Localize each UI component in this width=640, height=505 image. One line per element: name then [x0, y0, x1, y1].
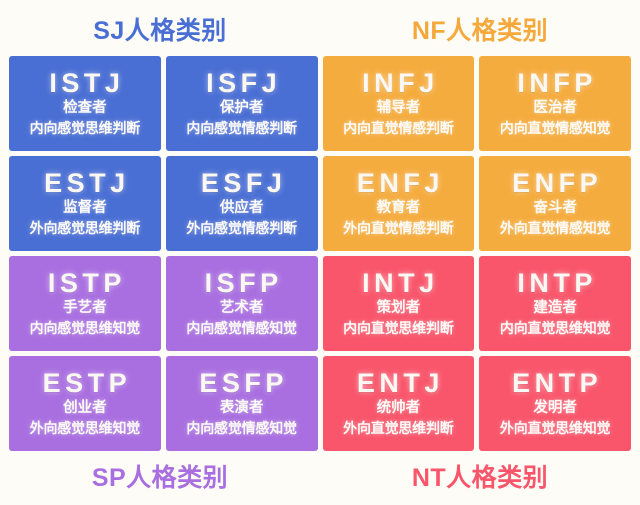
- type-role: 策划者: [377, 300, 421, 317]
- type-card-enfp[interactable]: ENFP奋斗者外向直觉情感知觉: [479, 156, 631, 251]
- type-functions: 外向直觉思维判断: [343, 420, 453, 436]
- type-role: 表演者: [220, 400, 264, 417]
- type-code: ENTP: [508, 369, 602, 397]
- type-code: INTP: [513, 269, 597, 297]
- type-role: 手艺者: [63, 300, 107, 317]
- type-functions: 内向感觉思维判断: [30, 120, 140, 136]
- type-code: ESFJ: [197, 169, 287, 197]
- top-header-row: SJ人格类别 NF人格类别: [0, 8, 640, 54]
- type-role: 供应者: [220, 200, 264, 217]
- personality-type-grid: ISTJ检查者内向感觉思维判断ISFJ保护者内向感觉情感判断INFJ辅导者内向直…: [9, 56, 631, 451]
- type-card-esfp[interactable]: ESFP表演者内向感觉情感知觉: [166, 356, 318, 451]
- type-functions: 内向直觉思维知觉: [500, 320, 610, 336]
- type-code: INFP: [513, 69, 597, 97]
- type-code: ISFJ: [202, 69, 281, 97]
- type-functions: 外向感觉思维知觉: [30, 420, 140, 436]
- header-label-nt: NT人格类别: [412, 466, 548, 491]
- type-functions: 内向感觉情感判断: [186, 120, 296, 136]
- type-role: 辅导者: [377, 100, 421, 117]
- type-role: 监督者: [63, 200, 107, 217]
- type-code: ESFP: [195, 369, 288, 397]
- type-functions: 外向感觉思维判断: [30, 220, 140, 236]
- type-role: 艺术者: [220, 300, 264, 317]
- type-role: 医治者: [533, 100, 577, 117]
- header-label-sj: SJ人格类别: [93, 19, 227, 44]
- bottom-header-row: SP人格类别 NT人格类别: [0, 455, 640, 501]
- header-cell-sj: SJ人格类别: [0, 8, 320, 54]
- type-functions: 外向直觉情感知觉: [500, 220, 610, 236]
- type-functions: 内向感觉情感知觉: [186, 320, 296, 336]
- header-cell-nt: NT人格类别: [320, 455, 640, 501]
- type-functions: 内向感觉情感知觉: [186, 420, 296, 436]
- type-code: ESTJ: [40, 169, 130, 197]
- mbti-chart: SJ人格类别 NF人格类别 ISTJ检查者内向感觉思维判断ISFJ保护者内向感觉…: [0, 0, 640, 505]
- type-code: INFJ: [358, 69, 439, 97]
- type-card-infp[interactable]: INFP医治者内向直觉情感知觉: [479, 56, 631, 151]
- type-card-esfj[interactable]: ESFJ供应者外向感觉情感判断: [166, 156, 318, 251]
- type-card-entj[interactable]: ENTJ统帅者外向直觉思维判断: [323, 356, 475, 451]
- header-label-nf: NF人格类别: [412, 19, 548, 44]
- type-code: ESTP: [39, 369, 132, 397]
- type-role: 奋斗者: [533, 200, 577, 217]
- type-code: ISTP: [44, 269, 126, 297]
- type-role: 建造者: [533, 300, 577, 317]
- type-role: 教育者: [377, 200, 421, 217]
- type-functions: 内向感觉思维知觉: [30, 320, 140, 336]
- type-code: ENTJ: [353, 369, 444, 397]
- type-card-estj[interactable]: ESTJ监督者外向感觉思维判断: [9, 156, 161, 251]
- type-code: ISTJ: [45, 69, 124, 97]
- type-code: ISFP: [201, 269, 283, 297]
- header-label-sp: SP人格类别: [92, 466, 228, 491]
- type-card-estp[interactable]: ESTP创业者外向感觉思维知觉: [9, 356, 161, 451]
- type-functions: 外向直觉情感判断: [343, 220, 453, 236]
- header-cell-sp: SP人格类别: [0, 455, 320, 501]
- type-card-isfj[interactable]: ISFJ保护者内向感觉情感判断: [166, 56, 318, 151]
- type-card-isfp[interactable]: ISFP艺术者内向感觉情感知觉: [166, 256, 318, 351]
- type-card-enfj[interactable]: ENFJ教育者外向直觉情感判断: [323, 156, 475, 251]
- type-functions: 内向直觉情感判断: [343, 120, 453, 136]
- type-card-istp[interactable]: ISTP手艺者内向感觉思维知觉: [9, 256, 161, 351]
- type-code: ENFJ: [353, 169, 444, 197]
- header-cell-nf: NF人格类别: [320, 8, 640, 54]
- type-functions: 内向直觉思维判断: [343, 320, 453, 336]
- type-functions: 外向感觉情感判断: [186, 220, 296, 236]
- type-card-istj[interactable]: ISTJ检查者内向感觉思维判断: [9, 56, 161, 151]
- type-card-intp[interactable]: INTP建造者内向直觉思维知觉: [479, 256, 631, 351]
- type-role: 创业者: [63, 400, 107, 417]
- type-role: 保护者: [220, 100, 264, 117]
- type-role: 发明者: [533, 400, 577, 417]
- type-card-intj[interactable]: INTJ策划者内向直觉思维判断: [323, 256, 475, 351]
- type-code: ENFP: [508, 169, 602, 197]
- type-role: 检查者: [63, 100, 107, 117]
- type-code: INTJ: [358, 269, 439, 297]
- type-functions: 外向直觉思维知觉: [500, 420, 610, 436]
- type-functions: 内向直觉情感知觉: [500, 120, 610, 136]
- type-role: 统帅者: [377, 400, 421, 417]
- type-card-entp[interactable]: ENTP发明者外向直觉思维知觉: [479, 356, 631, 451]
- type-card-infj[interactable]: INFJ辅导者内向直觉情感判断: [323, 56, 475, 151]
